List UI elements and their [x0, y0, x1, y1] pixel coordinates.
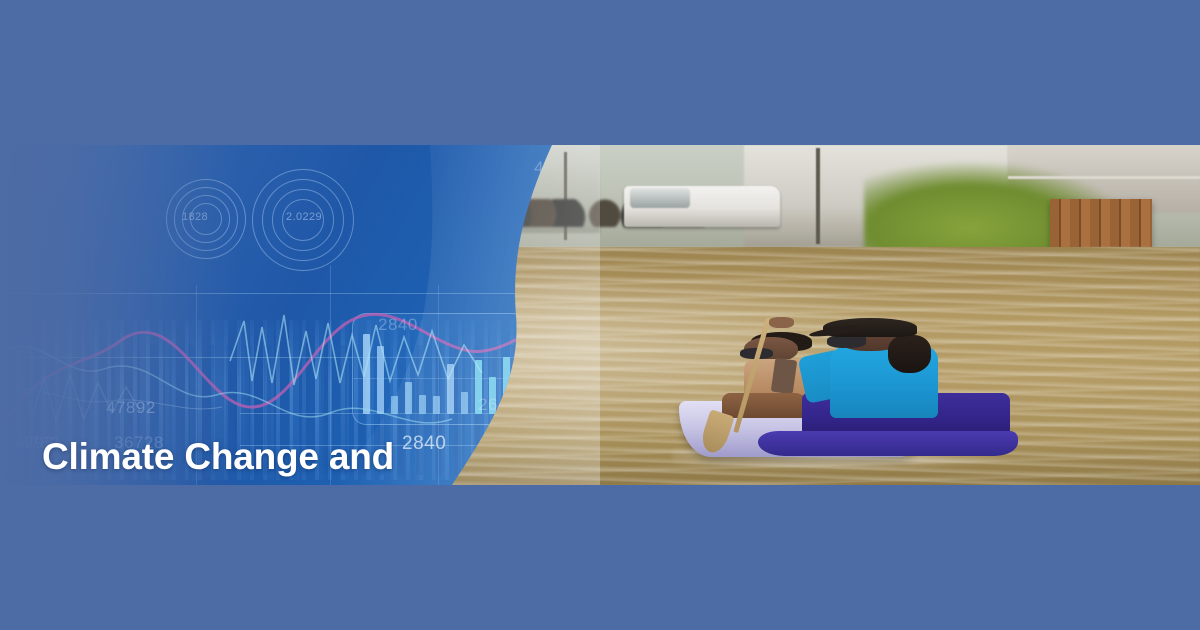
viz-ring: [272, 189, 334, 251]
banner-title: Climate Change and Health Initiative: [42, 434, 462, 485]
viz-bar: [419, 395, 426, 414]
viz-waveform-1: [230, 315, 482, 385]
hero-banner: 1828 2.0229: [0, 145, 1200, 485]
photo-railing: [1008, 176, 1200, 179]
viz-number-47892: 47892: [106, 398, 156, 418]
banner-title-line-2: Health Initiative: [42, 479, 462, 485]
photo-person-back-strap: [771, 357, 797, 394]
photo-utility-pole: [816, 148, 820, 243]
viz-ring-label-2: 2.0229: [286, 211, 322, 223]
viz-bar: [405, 382, 412, 414]
viz-bar: [489, 377, 496, 414]
photo-pickup-truck-cab: [630, 188, 690, 208]
photo-boat-pontoon: [758, 431, 1017, 456]
viz-gridline: [0, 357, 560, 358]
viz-ring: [190, 203, 222, 235]
viz-ring: [166, 179, 246, 259]
viz-bar: [363, 334, 370, 414]
viz-bar: [377, 346, 384, 414]
viz-ring: [282, 199, 324, 241]
viz-bar: [433, 396, 440, 414]
photo-person-front-face-mask: [827, 335, 867, 348]
banner-title-line-1: Climate Change and: [42, 434, 462, 479]
photo-utility-pole: [564, 152, 567, 240]
photo-boat-group: [672, 315, 1032, 471]
photo-paddle-hand: [769, 317, 794, 328]
page-canvas: 1828 2.0229: [0, 0, 1200, 630]
viz-ring: [174, 187, 238, 251]
photo-person-front-hair: [888, 335, 931, 373]
photo-person-back-legs: [722, 393, 808, 418]
viz-ring: [262, 179, 344, 261]
viz-number-2840-small: 2840: [378, 315, 418, 335]
viz-bar: [447, 364, 454, 414]
viz-bar: [391, 396, 398, 414]
viz-ring: [182, 195, 230, 243]
viz-soft-line: [0, 389, 222, 409]
viz-ring: [252, 169, 354, 271]
viz-gridline: [0, 293, 560, 294]
viz-cyan-trendline: [0, 346, 452, 422]
viz-waveform-2: [10, 375, 140, 421]
viz-bar-chart-gridline: [353, 378, 525, 379]
viz-bar: [475, 360, 482, 414]
viz-bar: [461, 392, 468, 414]
viz-ring-label-1: 1828: [182, 211, 208, 223]
